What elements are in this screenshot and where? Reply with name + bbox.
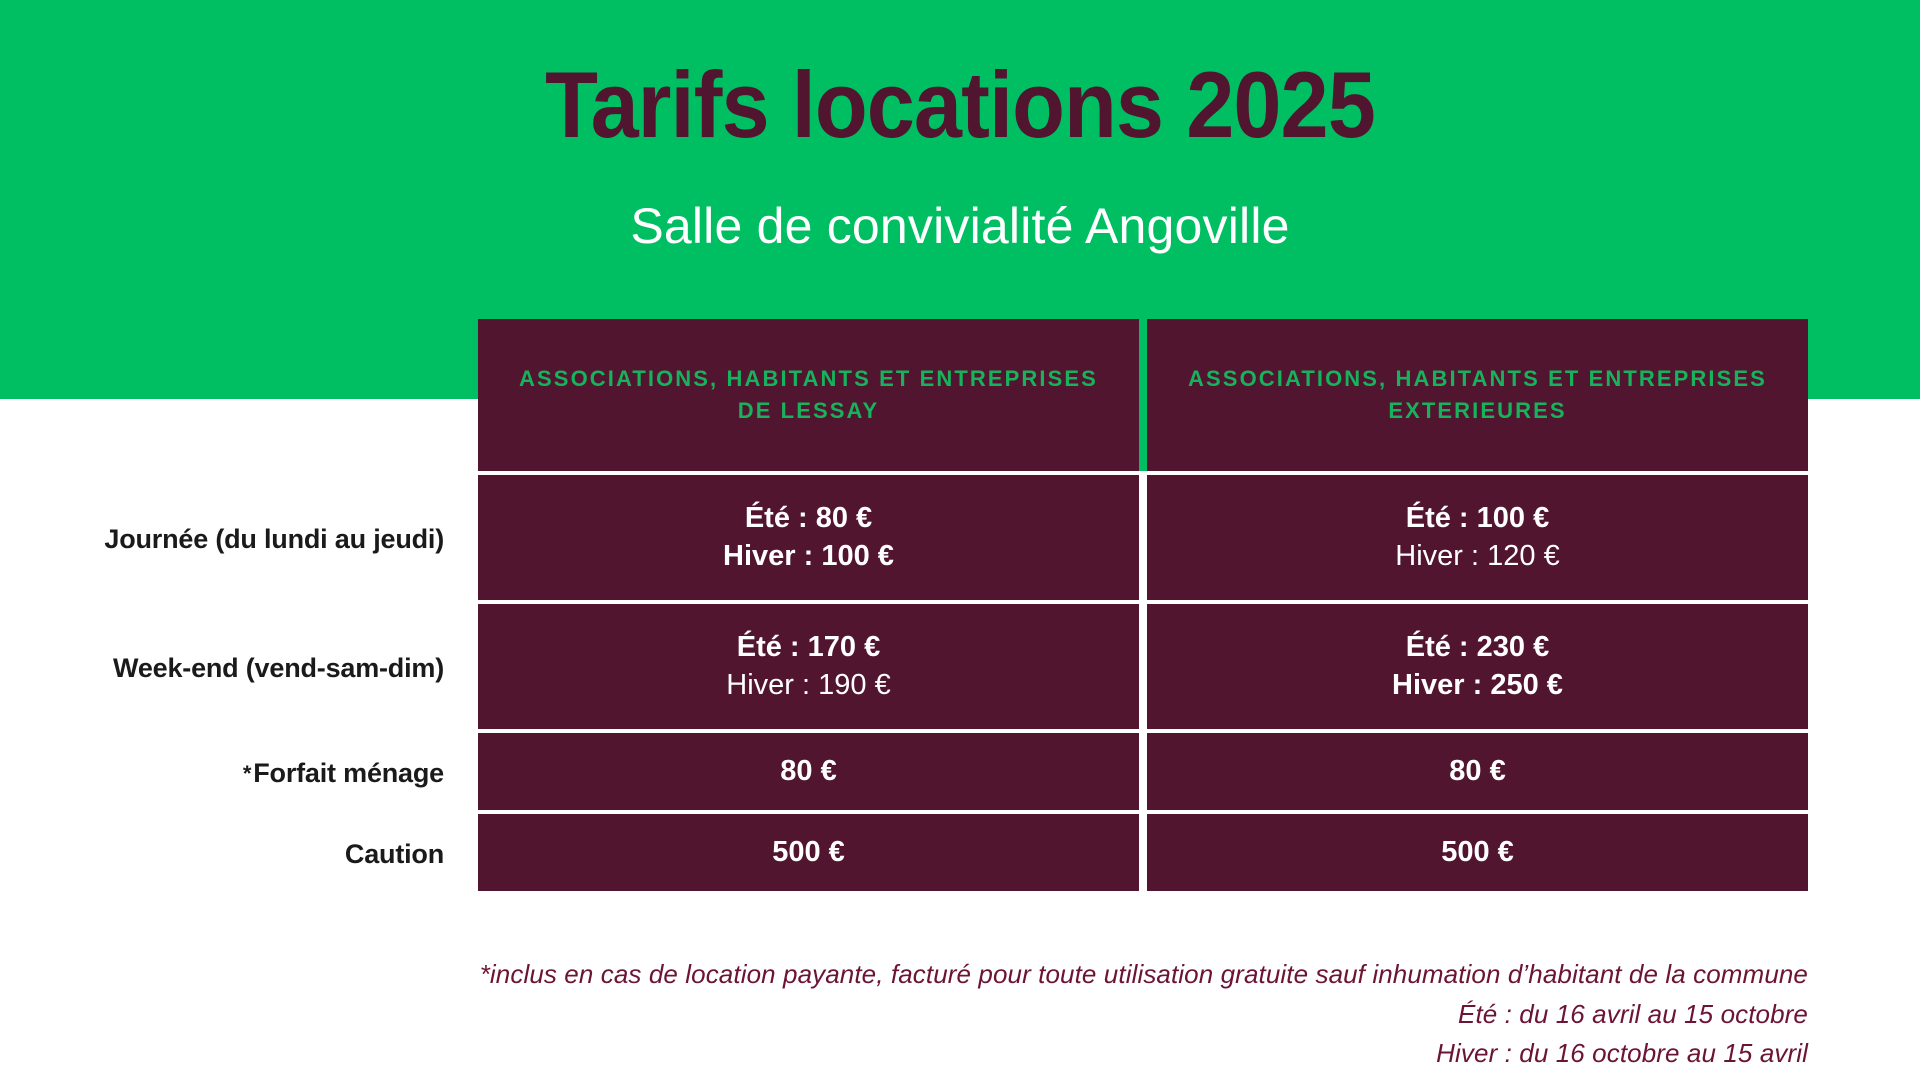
row-label-text: Caution <box>345 839 444 870</box>
cell-line-price: 500 € <box>1441 834 1514 871</box>
pricing-poster: Tarifs locations 2025 Salle de convivial… <box>0 0 1920 1080</box>
cell-line-ete: Été : 230 € <box>1406 629 1549 666</box>
cell-line-hiver: Hiver : 100 € <box>723 538 894 575</box>
cell-forfait-menage-exterieures: 80 € <box>1147 733 1808 810</box>
table-header-row: ASSOCIATIONS, HABITANTS ET ENTREPRISES D… <box>478 319 1808 471</box>
cell-line-ete: Été : 170 € <box>737 629 880 666</box>
cell-line-hiver: Hiver : 190 € <box>726 667 890 704</box>
footer-notes: *inclus en cas de location payante, fact… <box>0 955 1808 1074</box>
column-divider <box>1139 733 1147 810</box>
column-header-lessay: ASSOCIATIONS, HABITANTS ET ENTREPRISES D… <box>478 319 1139 471</box>
cell-line-price: 500 € <box>772 834 845 871</box>
footer-note-menage: *inclus en cas de location payante, fact… <box>0 955 1808 995</box>
column-divider <box>1139 814 1147 891</box>
cell-caution-exterieures: 500 € <box>1147 814 1808 891</box>
table-row: Été : 170 € Hiver : 190 € Été : 230 € Hi… <box>478 604 1808 729</box>
row-label-weekend: Week-end (vend-sam-dim) <box>0 604 462 733</box>
row-label-caution: Caution <box>0 814 462 895</box>
page-title: Tarifs locations 2025 <box>77 56 1843 155</box>
asterisk-icon: * <box>243 761 251 787</box>
cell-forfait-menage-lessay: 80 € <box>478 733 1139 810</box>
table-row: 500 € 500 € <box>478 814 1808 891</box>
cell-line-ete: Été : 100 € <box>1406 500 1549 537</box>
table-row: 80 € 80 € <box>478 733 1808 810</box>
column-divider <box>1139 604 1147 729</box>
cell-line-hiver: Hiver : 250 € <box>1392 667 1563 704</box>
row-label-forfait-menage: * Forfait ménage <box>0 733 462 814</box>
row-label-text: Journée (du lundi au jeudi) <box>104 524 444 555</box>
cell-weekend-exterieures: Été : 230 € Hiver : 250 € <box>1147 604 1808 729</box>
cell-line-price: 80 € <box>1449 753 1505 790</box>
table-row: Été : 80 € Hiver : 100 € Été : 100 € Hiv… <box>478 475 1808 600</box>
cell-line-hiver: Hiver : 120 € <box>1395 538 1559 575</box>
footer-note-hiver: Hiver : du 16 octobre au 15 avril <box>0 1034 1808 1074</box>
page-subtitle: Salle de convivialité Angoville <box>0 197 1920 255</box>
row-label-spacer <box>0 319 462 475</box>
column-divider <box>1139 475 1147 600</box>
cell-journee-lessay: Été : 80 € Hiver : 100 € <box>478 475 1139 600</box>
row-label-text: Week-end (vend-sam-dim) <box>113 653 444 684</box>
row-label-journee: Journée (du lundi au jeudi) <box>0 475 462 604</box>
row-label-text: Forfait ménage <box>253 758 444 789</box>
cell-line-price: 80 € <box>780 753 836 790</box>
cell-line-ete: Été : 80 € <box>745 500 872 537</box>
column-divider <box>1139 319 1147 471</box>
cell-journee-exterieures: Été : 100 € Hiver : 120 € <box>1147 475 1808 600</box>
column-header-exterieures: ASSOCIATIONS, HABITANTS ET ENTREPRISES E… <box>1147 319 1808 471</box>
pricing-table: ASSOCIATIONS, HABITANTS ET ENTREPRISES D… <box>478 319 1808 891</box>
cell-weekend-lessay: Été : 170 € Hiver : 190 € <box>478 604 1139 729</box>
row-label-column: Journée (du lundi au jeudi) Week-end (ve… <box>0 319 462 895</box>
footer-note-ete: Été : du 16 avril au 15 octobre <box>0 995 1808 1035</box>
cell-caution-lessay: 500 € <box>478 814 1139 891</box>
